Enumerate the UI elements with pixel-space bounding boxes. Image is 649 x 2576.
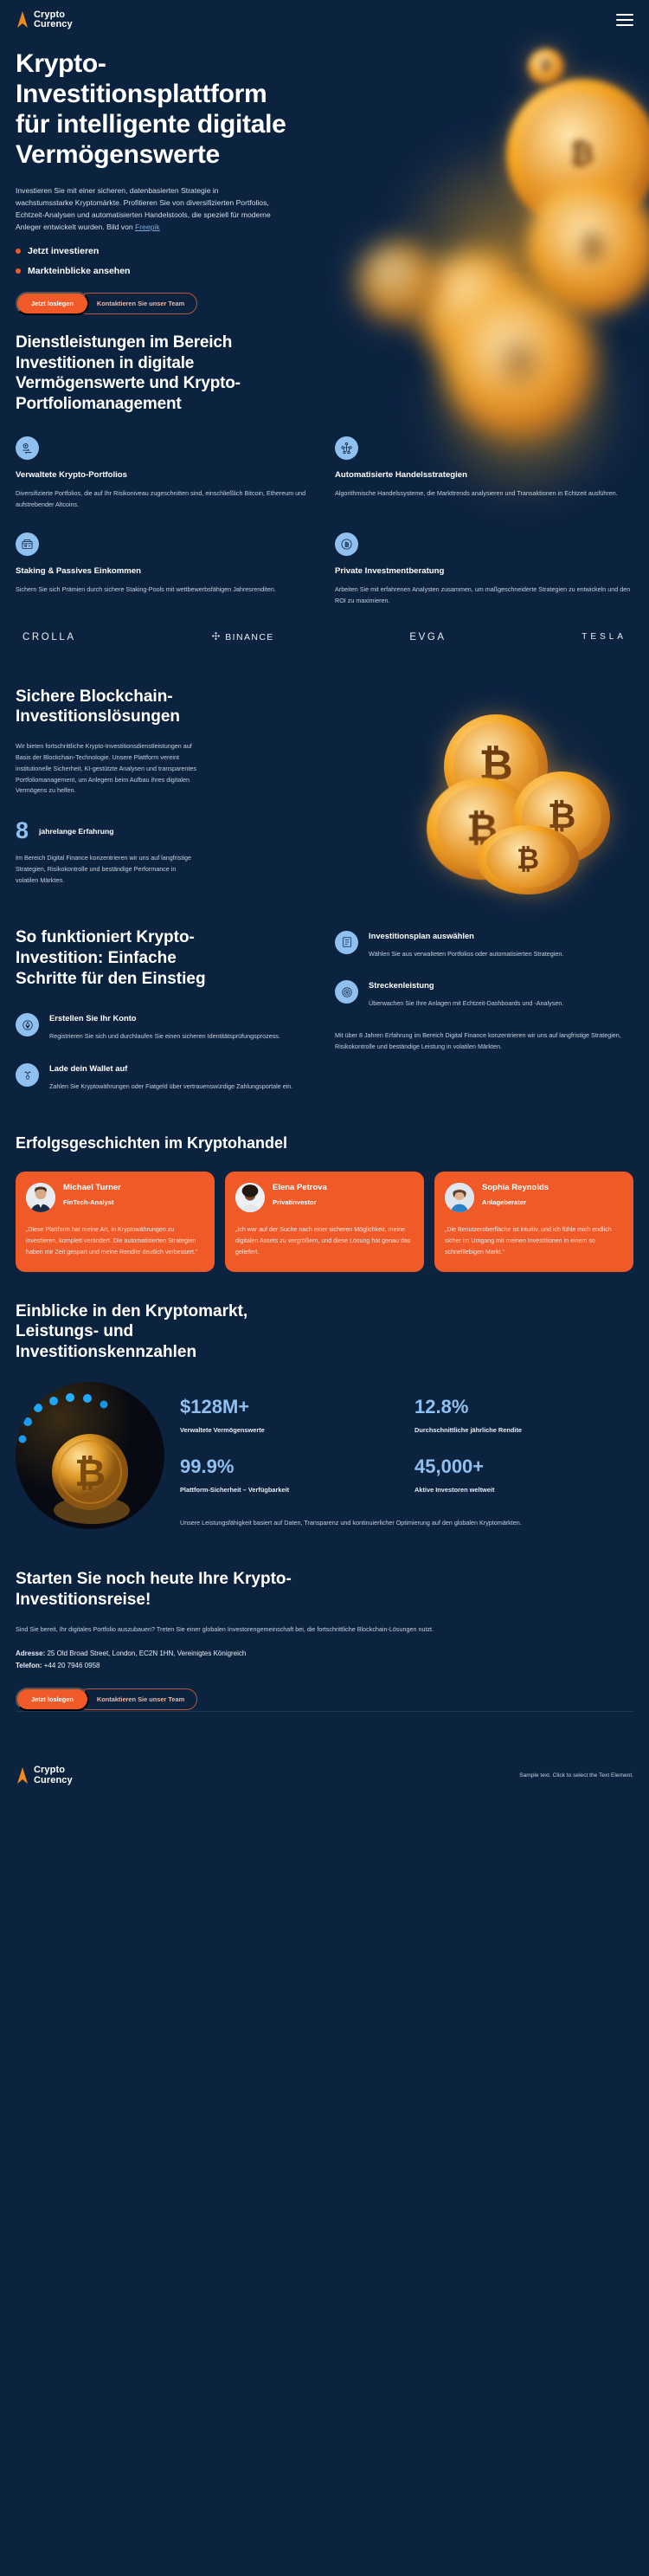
logo-binance: BINANCE bbox=[211, 629, 273, 645]
network-nodes-icon bbox=[335, 436, 358, 460]
stats-section: Einblicke in den Kryptomarkt, Leistungs-… bbox=[0, 1272, 649, 1530]
steps-right-column: Investitionsplan auswählen Wählen Sie au… bbox=[335, 927, 633, 1114]
testimonial-name: Sophia Reynolds bbox=[482, 1183, 549, 1193]
hero-section: ₿ ₿ ₿ Krypto-Investitionsplattform für i… bbox=[0, 40, 649, 315]
address-value: 25 Old Broad Street, London, EC2N 1HN, V… bbox=[45, 1650, 246, 1657]
phone-label: Telefon: bbox=[16, 1662, 42, 1669]
service-text: Arbeiten Sie mit erfahrenen Analysten zu… bbox=[335, 584, 633, 606]
stat-item: 12.8% Durchschnittliche jährliche Rendit… bbox=[414, 1398, 633, 1435]
stat-label: Verwaltete Vermögenswerte bbox=[180, 1425, 399, 1435]
stat-value: 45,000+ bbox=[414, 1457, 633, 1476]
cta-get-started-button[interactable]: Jetzt loslegen bbox=[16, 1688, 89, 1711]
stat-value: 12.8% bbox=[414, 1398, 633, 1417]
stats-note: Unsere Leistungsfähigkeit basiert auf Da… bbox=[180, 1518, 633, 1529]
hero-link-insights[interactable]: Markteinblicke ansehen bbox=[16, 266, 633, 276]
step-title: Lade dein Wallet auf bbox=[49, 1063, 292, 1073]
footer-divider bbox=[16, 1711, 633, 1712]
page-title: Krypto-Investitionsplattform für intelli… bbox=[16, 48, 301, 170]
binance-diamond-icon bbox=[211, 629, 221, 645]
testimonial-card: Sophia Reynolds Anlageberater „Die Benut… bbox=[434, 1172, 633, 1272]
experience-stat: 8 jahrelange Erfahrung bbox=[16, 819, 275, 843]
service-card: Private Investmentberatung Arbeiten Sie … bbox=[335, 533, 633, 606]
service-title: Staking & Passives Einkommen bbox=[16, 566, 314, 576]
ethereum-shield-icon bbox=[16, 1013, 39, 1036]
avatar bbox=[445, 1183, 474, 1212]
service-text: Sichern Sie sich Prämien durch sichere S… bbox=[16, 584, 314, 596]
blockchain-note: Im Bereich Digital Finance konzentrieren… bbox=[16, 853, 193, 886]
testimonial-role: Anlageberater bbox=[482, 1198, 549, 1207]
testimonial-quote: „Ich war auf der Suche nach einer sicher… bbox=[235, 1224, 414, 1258]
stats-grid: $128M+ Verwaltete Vermögenswerte 12.8% D… bbox=[180, 1398, 633, 1495]
stats-bitcoin-image: ₿ bbox=[16, 1382, 164, 1529]
testimonial-role: FinTech-Analyst bbox=[63, 1198, 121, 1207]
bitcoin-stack-image: ₿ ₿ ₿ ₿ bbox=[409, 695, 630, 894]
testimonials-grid: Michael Turner FinTech-Analyst „Diese Pl… bbox=[16, 1172, 633, 1272]
how-it-works-section: So funktioniert Krypto-Investition: Einf… bbox=[0, 888, 649, 1114]
phone-line: Telefon: +44 20 7946 0958 bbox=[16, 1660, 633, 1672]
steps-footnote: Mit über 8 Jahren Erfahrung im Bereich D… bbox=[335, 1030, 633, 1053]
step-text: Wählen Sie aus verwalteten Portfolios od… bbox=[369, 949, 563, 960]
footer-brand-logo[interactable]: Crypto Curency bbox=[16, 1766, 73, 1785]
avatar bbox=[26, 1183, 55, 1212]
site-header: Crypto Curency bbox=[0, 0, 649, 40]
stat-item: 99.9% Plattform-Sicherheit – Verfügbarke… bbox=[180, 1457, 399, 1495]
cta-title: Starten Sie noch heute Ihre Krypto-Inves… bbox=[16, 1569, 362, 1611]
testimonials-section: Erfolgsgeschichten im Kryptohandel bbox=[0, 1114, 649, 1272]
bullet-dot-icon bbox=[16, 268, 21, 274]
blockchain-section: ₿ ₿ ₿ ₿ Sichere Blockchain-Investitionsl… bbox=[0, 671, 649, 888]
hero-button-row: Jetzt loslegen Kontaktieren Sie unser Te… bbox=[16, 292, 633, 315]
logo-binance-label: BINANCE bbox=[225, 632, 273, 642]
arrow-logo-icon bbox=[16, 1767, 29, 1785]
avatar bbox=[235, 1183, 265, 1212]
steps-left-column: So funktioniert Krypto-Investition: Einf… bbox=[16, 927, 314, 1114]
experience-number: 8 bbox=[16, 819, 29, 843]
step-text: Zahlen Sie Kryptowährungen oder Fiatgeld… bbox=[49, 1081, 292, 1093]
plan-document-icon bbox=[335, 931, 358, 954]
testimonial-card: Elena Petrova Privatinvestor „Ich war au… bbox=[225, 1172, 424, 1272]
hero-link-list: Jetzt investieren Markteinblicke ansehen bbox=[16, 246, 633, 276]
wallet-node-icon bbox=[16, 1063, 39, 1087]
stat-label: Aktive Investoren weltweit bbox=[414, 1485, 633, 1495]
service-title: Automatisierte Handelsstrategien bbox=[335, 470, 633, 480]
logo-crolla-label: CROLLA bbox=[22, 632, 76, 642]
stat-value: 99.9% bbox=[180, 1457, 399, 1476]
experience-label: jahrelange Erfahrung bbox=[39, 827, 113, 836]
steps-title: So funktioniert Krypto-Investition: Einf… bbox=[16, 927, 232, 990]
stat-value: $128M+ bbox=[180, 1398, 399, 1417]
logo-tesla-label: TESLA bbox=[582, 632, 627, 642]
testimonial-card: Michael Turner FinTech-Analyst „Diese Pl… bbox=[16, 1172, 215, 1272]
stat-item: 45,000+ Aktive Investoren weltweit bbox=[414, 1457, 633, 1495]
landing-page: Crypto Curency ₿ ₿ ₿ Krypto-Investitions… bbox=[0, 0, 649, 1806]
logo-tesla: TESLA bbox=[582, 632, 627, 642]
hero-link-invest[interactable]: Jetzt investieren bbox=[16, 246, 633, 256]
blockchain-title: Sichere Blockchain-Investitionslösungen bbox=[16, 687, 232, 728]
step-title: Erstellen Sie Ihr Konto bbox=[49, 1013, 280, 1023]
brand-logo[interactable]: Crypto Curency bbox=[16, 10, 73, 30]
step-text: Registrieren Sie sich und durchlaufen Si… bbox=[49, 1031, 280, 1043]
hero-link-invest-label: Jetzt investieren bbox=[28, 246, 99, 256]
brand-name: Crypto Curency bbox=[34, 10, 73, 30]
stat-label: Durchschnittliche jährliche Rendite bbox=[414, 1425, 633, 1435]
address-label: Adresse: bbox=[16, 1650, 45, 1657]
step-item: Erstellen Sie Ihr Konto Registrieren Sie… bbox=[16, 1013, 314, 1043]
hero-get-started-button[interactable]: Jetzt loslegen bbox=[16, 292, 89, 315]
site-footer: Crypto Curency Sample text. Click to sel… bbox=[0, 1746, 649, 1806]
testimonials-title: Erfolgsgeschichten im Kryptohandel bbox=[16, 1134, 633, 1152]
bullet-dot-icon bbox=[16, 249, 21, 254]
blockchain-text: Wir bieten fortschrittliche Krypto-Inves… bbox=[16, 741, 202, 797]
step-item: Streckenleistung Überwachen Sie Ihre Anl… bbox=[335, 980, 633, 1010]
testimonial-name: Michael Turner bbox=[63, 1183, 121, 1193]
money-exchange-icon bbox=[16, 436, 39, 460]
stat-item: $128M+ Verwaltete Vermögenswerte bbox=[180, 1398, 399, 1435]
hero-contact-team-button[interactable]: Kontaktieren Sie unser Team bbox=[77, 293, 197, 314]
service-card: Verwaltete Krypto-Portfolios Diversifizi… bbox=[16, 436, 314, 510]
testimonial-quote: „Diese Plattform hat meine Art, in Krypt… bbox=[26, 1224, 204, 1258]
wallet-coins-icon bbox=[16, 533, 39, 556]
step-title: Streckenleistung bbox=[369, 980, 563, 990]
testimonial-quote: „Die Benutzeroberfläche ist intuitiv, un… bbox=[445, 1224, 623, 1258]
stats-title: Einblicke in den Kryptomarkt, Leistungs-… bbox=[16, 1301, 301, 1364]
bitcoin-circle-icon bbox=[335, 533, 358, 556]
service-text: Diversifizierte Portfolios, die auf Ihr … bbox=[16, 488, 314, 510]
stat-label: Plattform-Sicherheit – Verfügbarkeit bbox=[180, 1485, 399, 1495]
target-track-icon bbox=[335, 980, 358, 1004]
logo-evga-label: EVGA bbox=[409, 632, 446, 642]
footer-brand-name: Crypto Curency bbox=[34, 1766, 73, 1785]
address-line: Adresse: 25 Old Broad Street, London, EC… bbox=[16, 1648, 633, 1660]
step-title: Investitionsplan auswählen bbox=[369, 931, 563, 940]
service-text: Algorithmische Handelssysteme, die Markt… bbox=[335, 488, 633, 500]
partner-logos-bar: CROLLA BINANCE EVGA TESLA bbox=[0, 607, 649, 671]
arrow-logo-icon bbox=[16, 11, 29, 29]
footer-brand-line-1: Crypto bbox=[34, 1766, 73, 1775]
step-item: Investitionsplan auswählen Wählen Sie au… bbox=[335, 931, 633, 960]
service-card: Staking & Passives Einkommen Sichern Sie… bbox=[16, 533, 314, 606]
logo-evga: EVGA bbox=[409, 632, 446, 642]
services-section: ₿ Dienstleistungen im Bereich Investitio… bbox=[0, 315, 649, 607]
service-title: Verwaltete Krypto-Portfolios bbox=[16, 470, 314, 480]
logo-crolla: CROLLA bbox=[22, 632, 76, 642]
step-text: Überwachen Sie Ihre Anlagen mit Echtzeit… bbox=[369, 998, 563, 1010]
cta-button-row: Jetzt loslegen Kontaktieren Sie unser Te… bbox=[16, 1688, 633, 1711]
service-card: Automatisierte Handelsstrategien Algorit… bbox=[335, 436, 633, 510]
step-item: Lade dein Wallet auf Zahlen Sie Kryptowä… bbox=[16, 1063, 314, 1093]
svg-text:₿: ₿ bbox=[74, 1452, 106, 1495]
cta-text: Sind Sie bereit, Ihr digitales Portfolio… bbox=[16, 1624, 604, 1636]
testimonial-role: Privatinvestor bbox=[273, 1198, 327, 1207]
hamburger-menu-icon[interactable] bbox=[616, 14, 633, 26]
footer-brand-line-2: Curency bbox=[34, 1776, 73, 1785]
phone-value: +44 20 7946 0958 bbox=[42, 1662, 100, 1669]
service-title: Private Investmentberatung bbox=[335, 566, 633, 576]
contact-info: Adresse: 25 Old Broad Street, London, EC… bbox=[16, 1648, 633, 1672]
hero-description: Investieren Sie mit einer sicheren, date… bbox=[16, 185, 275, 234]
testimonial-name: Elena Petrova bbox=[273, 1183, 327, 1193]
footer-sample-text: Sample text. Click to select the Text El… bbox=[519, 1772, 633, 1779]
services-title: Dienstleistungen im Bereich Investitione… bbox=[16, 332, 292, 414]
cta-contact-team-button[interactable]: Kontaktieren Sie unser Team bbox=[77, 1688, 197, 1710]
cta-section: Starten Sie noch heute Ihre Krypto-Inves… bbox=[0, 1529, 649, 1711]
freepik-link[interactable]: Freepik bbox=[135, 223, 160, 231]
services-grid: Verwaltete Krypto-Portfolios Diversifizi… bbox=[16, 436, 633, 606]
hero-link-insights-label: Markteinblicke ansehen bbox=[28, 266, 130, 276]
brand-line-2: Curency bbox=[34, 20, 73, 29]
